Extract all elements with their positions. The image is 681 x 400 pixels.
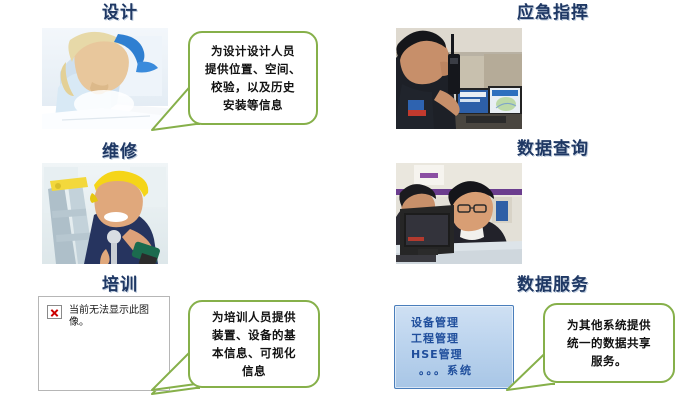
photo-emergency (396, 28, 522, 129)
section-title-data-service: 数据服务 (453, 274, 653, 296)
callout-text-design: 为设计设计人员 提供位置、空间、 校验，以及历史 安装等信息 (197, 42, 309, 114)
broken-image-text: 当前无法显示此图像。 (69, 305, 161, 329)
service-item-engineering: 工程管理 (411, 331, 513, 347)
services-box: 设备管理 工程管理 HSE管理 。。。系统 (394, 305, 514, 389)
callout-training: 为培训人员提供 装置、设备的基 本信息、可视化 信息 (188, 300, 320, 388)
callout-text-data-service: 为其他系统提供 统一的数据共享 服务。 (559, 316, 659, 370)
service-item-others: 。。。系统 (411, 363, 513, 379)
section-title-training: 培训 (0, 274, 240, 296)
broken-image-icon (47, 305, 62, 319)
photo-maintenance (42, 163, 168, 264)
section-title-design: 设计 (0, 2, 240, 24)
section-title-maintenance: 维修 (0, 141, 240, 163)
section-maintenance: 维修 (0, 133, 340, 266)
photo-query (396, 163, 522, 264)
photo-design (42, 28, 168, 129)
section-query: 数据查询 (341, 133, 681, 266)
callout-text-training: 为培训人员提供 装置、设备的基 本信息、可视化 信息 (204, 308, 304, 380)
service-item-equipment: 设备管理 (411, 315, 513, 331)
callout-data-service: 为其他系统提供 统一的数据共享 服务。 (543, 303, 675, 383)
broken-image-placeholder-training: 当前无法显示此图像。 (38, 296, 170, 391)
service-item-hse: HSE管理 (411, 347, 513, 363)
section-emergency: 应急指挥 (341, 0, 681, 133)
section-title-query: 数据查询 (453, 138, 653, 160)
section-design: 设计 为设计设计人员 提供 (0, 0, 340, 133)
section-title-emergency: 应急指挥 (453, 2, 653, 24)
callout-design: 为设计设计人员 提供位置、空间、 校验，以及历史 安装等信息 (188, 31, 318, 125)
